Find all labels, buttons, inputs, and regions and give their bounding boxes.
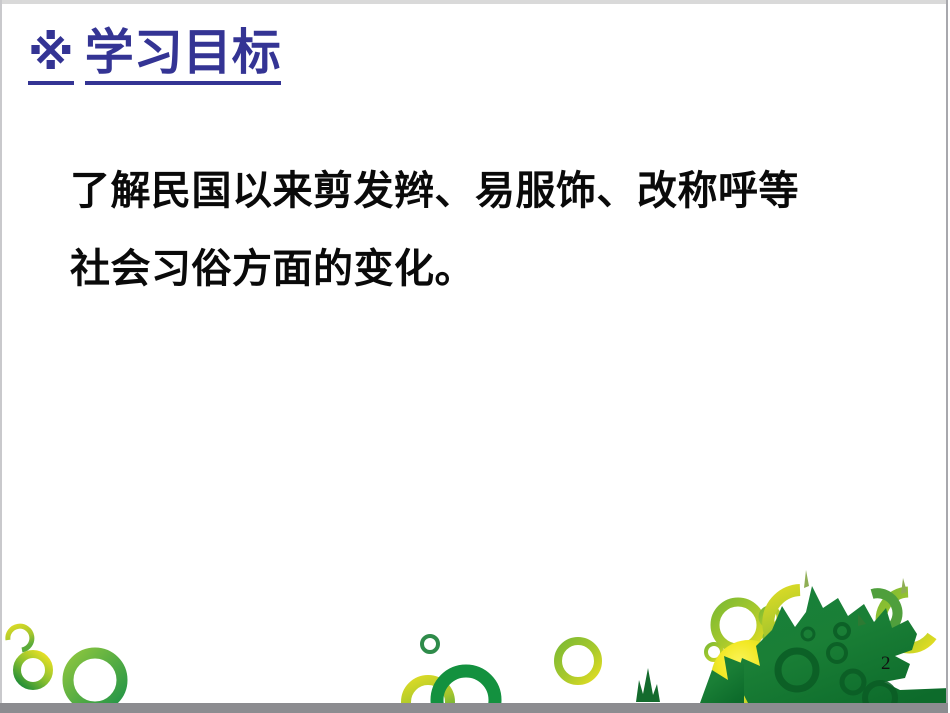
- ring-arc-leaf-right-inner: [863, 593, 898, 633]
- leaf-circle-e: [865, 683, 895, 703]
- slide-top-frame: [0, 0, 950, 4]
- page-title-text: 学习目标: [85, 28, 281, 85]
- decorative-footer-graphic: [0, 530, 950, 703]
- ring-leaf-tiny-c: [706, 644, 722, 660]
- ring-center-yellow: [406, 680, 450, 703]
- leaf-stem-fleck-c: [858, 614, 866, 626]
- grass-tuft-left: [636, 668, 660, 702]
- leaf-stem-fleck-a: [804, 570, 809, 588]
- leaf-circle-a: [778, 651, 816, 689]
- page-title: ※学习目标: [28, 28, 281, 85]
- maple-leaf-left-lobe: [700, 656, 744, 703]
- maple-leaf-shape: [736, 586, 950, 703]
- grass-tuft-left-small: [652, 694, 657, 702]
- leaf-stem-fleck-b: [901, 578, 907, 594]
- page-number: 2: [881, 653, 891, 675]
- leaf-circle-b: [828, 644, 846, 662]
- yellow-green-gradient-circle: [711, 640, 787, 703]
- ring-center-green: [437, 671, 495, 703]
- body-line-1: 了解民国以来剪发辫、易服饰、改称呼等: [70, 152, 900, 230]
- slide-bottom-frame: [0, 703, 950, 713]
- slide-canvas: ※学习目标 了解民国以来剪发辫、易服饰、改称呼等 社会习俗方面的变化。: [0, 0, 950, 713]
- slide-left-frame: [0, 0, 2, 703]
- ring-bottom-left-mid: [17, 654, 49, 686]
- ring-arc-far-left: [8, 626, 32, 650]
- learning-objective-text: 了解民国以来剪发辫、易服饰、改称呼等 社会习俗方面的变化。: [70, 152, 900, 308]
- reference-mark-icon: ※: [28, 30, 74, 85]
- leaf-circle-d: [835, 624, 849, 638]
- ring-arc-leaf-top: [768, 590, 833, 656]
- ring-leaf-tiny-b: [765, 630, 781, 646]
- leaf-circle-f: [802, 628, 814, 640]
- ring-center-small: [422, 636, 438, 652]
- ring-right-mid: [558, 641, 598, 681]
- ring-leaf-tiny-a: [761, 608, 779, 626]
- ring-arc-leaf-right: [881, 592, 932, 648]
- body-line-2: 社会习俗方面的变化。: [70, 230, 900, 308]
- leaf-circle-c: [842, 671, 864, 693]
- ring-leaf-upper-left: [715, 602, 761, 648]
- ring-bottom-left-large: [68, 653, 122, 703]
